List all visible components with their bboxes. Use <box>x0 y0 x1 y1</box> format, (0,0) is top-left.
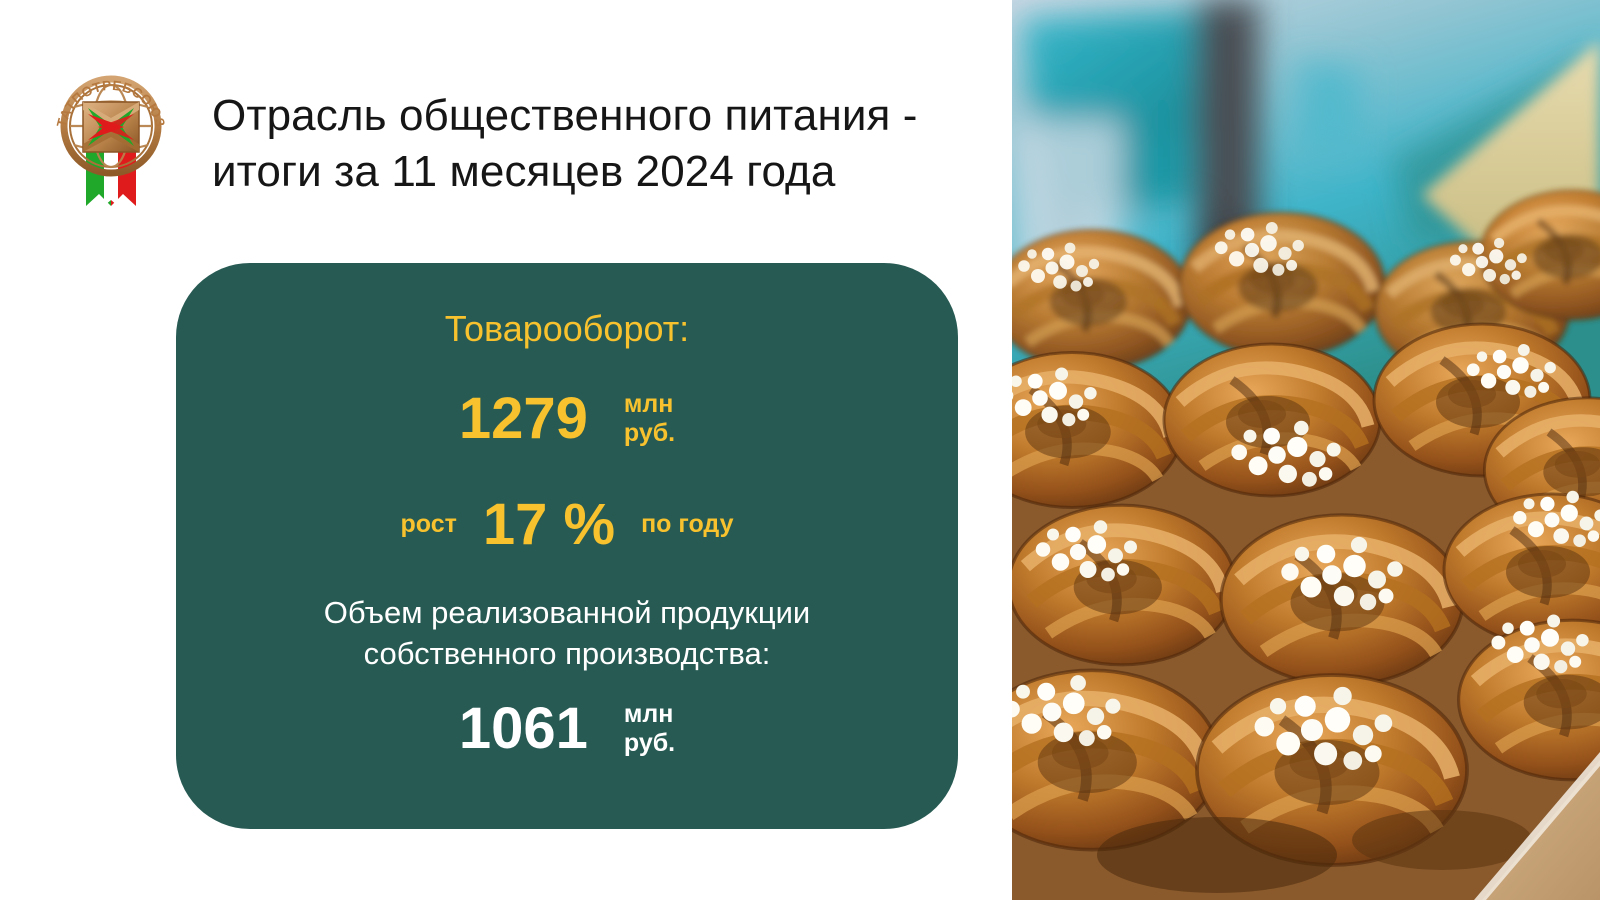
own-production-title-line1: Объем реализованной продукции <box>324 595 811 630</box>
ribbon-icon <box>86 148 136 206</box>
turnover-unit: млн руб. <box>624 390 675 448</box>
own-production-stat-row: 1061 млн руб. <box>176 695 958 762</box>
own-production-value: 1061 <box>459 695 588 762</box>
turnover-unit-line1: млн <box>624 390 673 418</box>
growth-value: 17 % <box>483 491 615 558</box>
cinnamon-buns-photo <box>1012 0 1600 900</box>
turnover-value: 1279 <box>459 385 588 452</box>
card-heading-turnover: Товарооборот: <box>176 308 958 350</box>
own-production-unit-line2: руб. <box>624 729 675 757</box>
own-production-unit-line1: млн <box>624 700 673 728</box>
growth-suffix-label: по году <box>641 510 733 539</box>
tatpotrebsoyuz-logo: ТАТПОТРЕБСОЮЗ <box>52 52 170 212</box>
turnover-stat-row: 1279 млн руб. <box>176 385 958 452</box>
own-production-unit: млн руб. <box>624 700 675 758</box>
page-title: Отрасль общественного питания - итоги за… <box>212 88 972 201</box>
slide-root: ТАТПОТРЕБСОЮЗ Отрасль общественного пита… <box>0 0 1600 900</box>
own-production-title-line2: собственного производства: <box>364 636 771 671</box>
own-production-title: Объем реализованной продукции собственно… <box>176 593 958 675</box>
growth-stat-row: рост 17 % по году <box>176 491 958 558</box>
turnover-unit-line2: руб. <box>624 419 675 447</box>
growth-prefix-label: рост <box>401 510 457 539</box>
stats-card: Товарооборот: 1279 млн руб. рост 17 % по… <box>176 263 958 829</box>
